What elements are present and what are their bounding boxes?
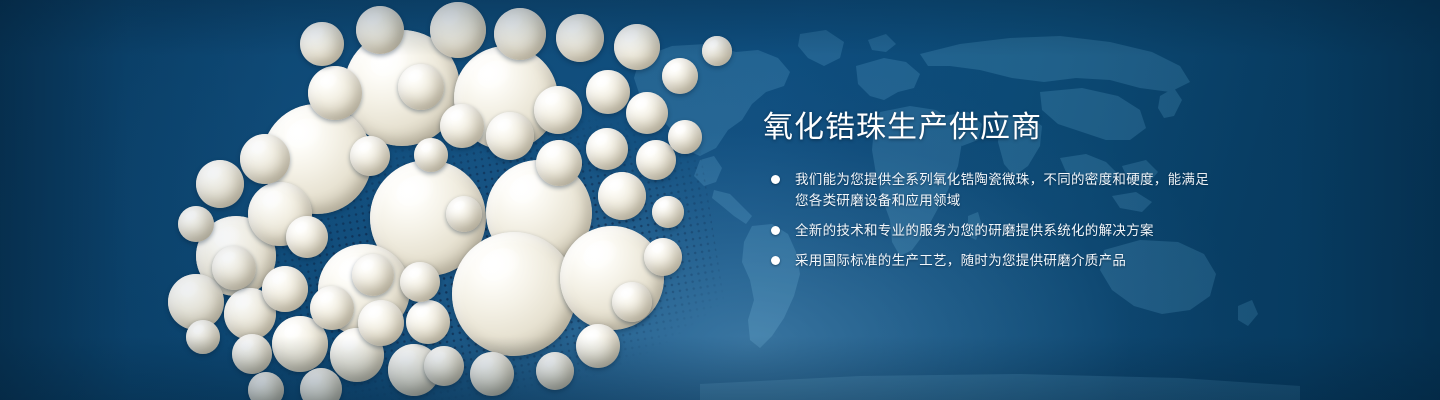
hero-banner: 氧化锆珠生产供应商 我们能为您提供全系列氧化锆陶瓷微珠，不同的密度和硬度，能满足… [0, 0, 1440, 400]
edge-vignette [0, 0, 1440, 400]
